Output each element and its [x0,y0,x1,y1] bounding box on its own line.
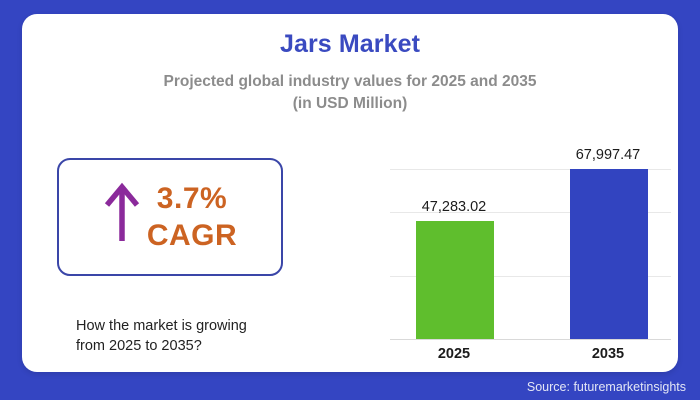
chart-x-axis: 2025 2035 [390,346,671,370]
chart-subtitle-line-2: (in USD Million) [22,93,678,115]
up-arrow-icon [103,181,141,243]
x-axis-label-2025: 2025 [406,346,502,362]
chart-subtitle: Projected global industry values for 202… [22,71,678,115]
content-card: Jars Market Projected global industry va… [22,14,678,372]
bar-2035[interactable] [570,169,648,339]
growth-question-line-2: from 2025 to 2035? [76,336,346,356]
cagr-text-block: 3.7% CAGR [147,180,237,254]
page-title: Jars Market [22,30,678,59]
cagr-label: CAGR [147,217,237,254]
bar-2025[interactable] [416,221,494,339]
chart-subtitle-line-1: Projected global industry values for 202… [22,71,678,93]
cagr-callout-box: 3.7% CAGR [57,158,283,276]
cagr-callout-content: 3.7% CAGR [59,160,281,274]
growth-question: How the market is growing from 2025 to 2… [76,316,346,356]
bar-value-2025: 47,283.02 [392,199,516,215]
infographic-canvas: Jars Market Projected global industry va… [0,0,700,400]
growth-question-line-1: How the market is growing [76,316,346,336]
x-axis-label-2035: 2035 [560,346,656,362]
bar-value-2035: 67,997.47 [546,147,670,163]
cagr-value: 3.7% [147,180,237,217]
chart-bars: 47,283.02 67,997.47 [390,140,671,340]
bar-chart: 47,283.02 67,997.47 2025 2035 [368,140,671,372]
source-attribution: Source: futuremarketinsights [527,380,686,394]
